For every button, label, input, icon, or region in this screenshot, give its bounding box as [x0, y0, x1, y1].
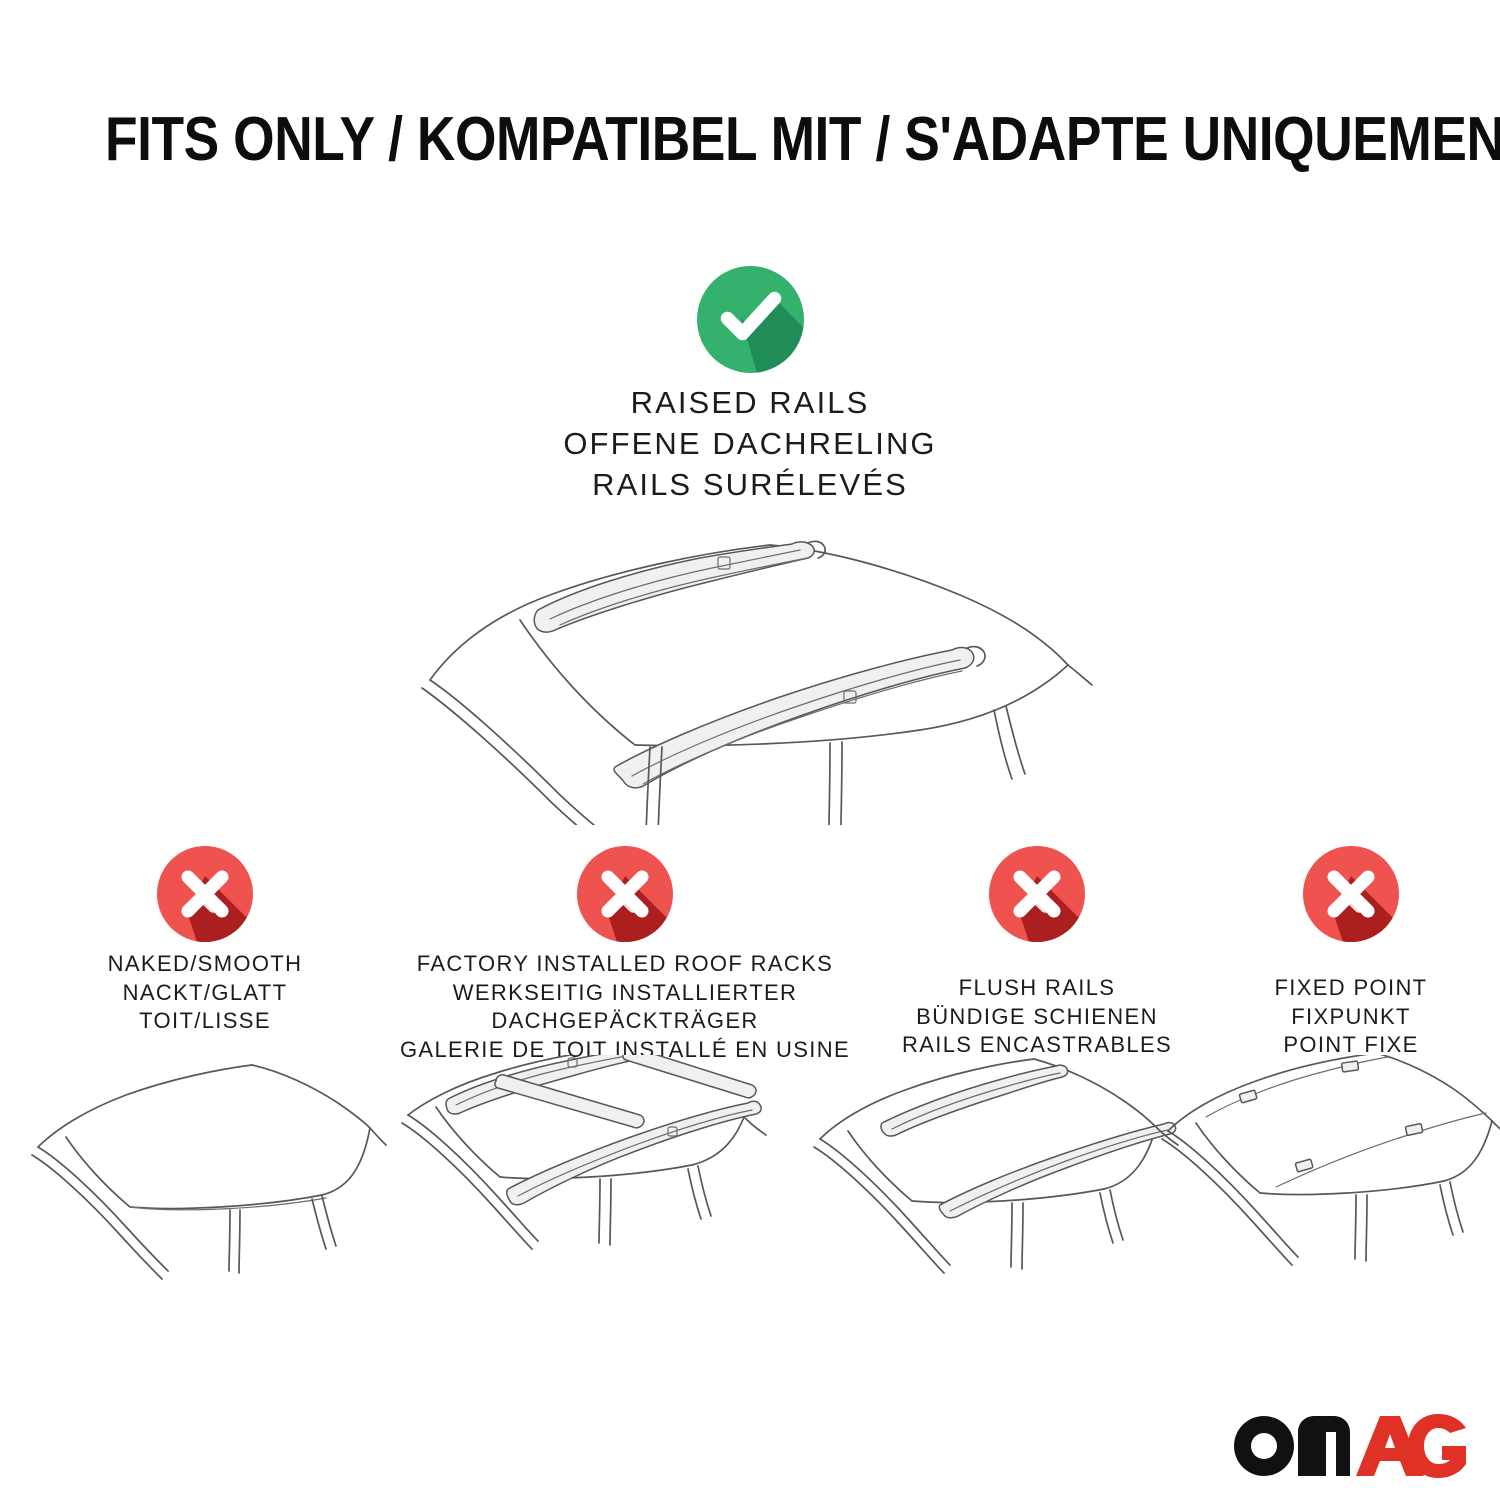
incompatible-label-en: NAKED/SMOOTH [25, 950, 385, 979]
illustration-row [0, 1055, 1500, 1305]
incompatible-label-en: FACTORY INSTALLED ROOF RACKS [390, 950, 860, 979]
incompatible-label-de: NACKT/GLATT [25, 979, 385, 1008]
car-roof-with-raised-rails-illustration [400, 495, 1100, 825]
incompatible-labels: NAKED/SMOOTH NACKT/GLATT TOIT/LISSE [25, 950, 385, 1036]
car-roof-naked-smooth-illustration [30, 1055, 390, 1305]
incompatible-label-en: FIXED POINT [1206, 974, 1496, 1003]
car-roof-flush-rails-illustration [812, 1055, 1202, 1305]
compatible-label-en: RAISED RAILS [0, 382, 1500, 423]
compatible-labels: RAISED RAILS OFFENE DACHRELING RAILS SUR… [0, 382, 1500, 506]
check-circle-icon [697, 266, 804, 373]
x-circle-icon [989, 846, 1085, 942]
car-roof-factory-installed-roof-racks-illustration [400, 1055, 800, 1305]
x-circle-icon [157, 846, 253, 942]
page-title: FITS ONLY / KOMPATIBEL MIT / S'ADAPTE UN… [105, 104, 1395, 175]
incompatible-label-de-2: DACHGEPÄCKTRÄGER [390, 1007, 860, 1036]
incompatible-labels: FACTORY INSTALLED ROOF RACKS WERKSEITIG … [390, 950, 860, 1064]
incompatible-labels: FIXED POINT FIXPUNKT POINT FIXE [1206, 974, 1496, 1060]
omac-logo [1228, 1406, 1468, 1478]
compatible-label-de: OFFENE DACHRELING [0, 423, 1500, 464]
incompatible-label-de-1: WERKSEITIG INSTALLIERTER [390, 979, 860, 1008]
car-roof-fixed-point-illustration [1160, 1055, 1500, 1305]
incompatible-label-de: FIXPUNKT [1206, 1003, 1496, 1032]
x-circle-icon [577, 846, 673, 942]
incompatible-label-en: FLUSH RAILS [872, 974, 1202, 1003]
x-circle-icon [1303, 846, 1399, 942]
incompatible-label-de: BÜNDIGE SCHIENEN [872, 1003, 1202, 1032]
incompatible-label-fr: TOIT/LISSE [25, 1007, 385, 1036]
fitment-guide-page: FITS ONLY / KOMPATIBEL MIT / S'ADAPTE UN… [0, 0, 1500, 1500]
incompatible-labels: FLUSH RAILS BÜNDIGE SCHIENEN RAILS ENCAS… [872, 974, 1202, 1060]
